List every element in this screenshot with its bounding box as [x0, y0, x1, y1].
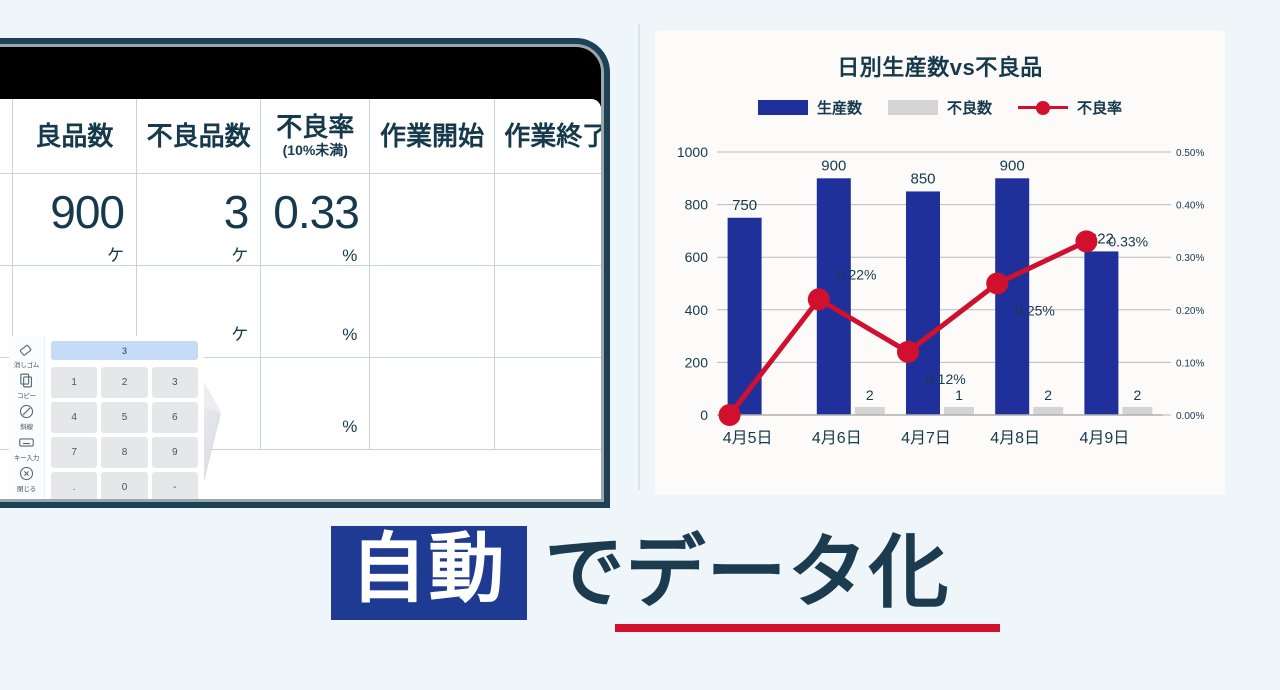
tool-slash[interactable]: 斜線 — [9, 403, 44, 431]
legend-item-defects: 不良数 — [888, 97, 992, 118]
keypad-key-6[interactable]: 6 — [152, 402, 198, 433]
tool-copy-label: コピー — [17, 390, 36, 400]
svg-text:0.30%: 0.30% — [1176, 253, 1204, 264]
svg-text:800: 800 — [685, 197, 709, 213]
svg-text:600: 600 — [685, 249, 709, 265]
defect-count-unit: ケ — [149, 235, 248, 264]
row-index-cell — [0, 173, 12, 265]
defect-rate-main: 不良率 — [276, 112, 354, 142]
panel-divider — [638, 24, 640, 490]
plot-area: 020040060080010000.00%0.10%0.20%0.30%0.4… — [655, 130, 1225, 460]
legend-swatch-production — [758, 100, 808, 115]
keypad-key-7[interactable]: 7 — [51, 437, 97, 468]
banner-chip: 自動 — [331, 526, 527, 620]
table-header-work-start: 作業開始 — [370, 99, 494, 173]
table-header-defect-count: 不良品数 — [137, 99, 261, 173]
defect-rate-unit: % — [342, 417, 357, 437]
screenshot-root: 良品数 不良品数 不良率 (10%未満) 作業開始 作業終了 — [0, 0, 1280, 690]
svg-text:0.33%: 0.33% — [1108, 233, 1148, 249]
svg-text:4月5日: 4月5日 — [723, 430, 773, 447]
svg-text:0.10%: 0.10% — [1176, 358, 1204, 369]
cell-work-end[interactable] — [494, 357, 601, 449]
close-circle-icon — [18, 465, 35, 482]
defect-rate-unit: % — [273, 235, 357, 264]
tablet-bezel: 良品数 不良品数 不良率 (10%未満) 作業開始 作業終了 — [0, 44, 604, 502]
svg-text:900: 900 — [821, 157, 846, 174]
tool-key-input-label: キー入力 — [14, 452, 39, 462]
keypad-grid: 123456789.0- — [51, 367, 198, 499]
cell-work-start[interactable] — [370, 173, 494, 265]
svg-text:4月6日: 4月6日 — [812, 430, 862, 447]
cell-work-start[interactable] — [370, 357, 494, 449]
eraser-icon — [18, 341, 35, 358]
legend-item-production: 生産数 — [758, 97, 862, 118]
keypad-key-3[interactable]: 3 — [152, 367, 198, 398]
cell-work-end[interactable] — [494, 265, 601, 357]
table-header-row: 良品数 不良品数 不良率 (10%未満) 作業開始 作業終了 — [0, 99, 601, 173]
tool-eraser[interactable]: 消しゴム — [9, 341, 44, 369]
keypad-key-5[interactable]: 5 — [101, 402, 147, 433]
copy-icon — [18, 372, 35, 389]
tablet-device: 良品数 不良品数 不良率 (10%未満) 作業開始 作業終了 — [0, 38, 610, 508]
app-surface: 良品数 不良品数 不良率 (10%未満) 作業開始 作業終了 — [0, 99, 601, 499]
legend-item-defect-rate: 不良率 — [1018, 97, 1122, 118]
svg-text:4月7日: 4月7日 — [901, 430, 951, 447]
keypad-key-4[interactable]: 4 — [51, 402, 97, 433]
defect-count-unit: ケ — [231, 320, 248, 345]
tool-close-label: 閉じる — [17, 483, 36, 493]
tool-copy[interactable]: コピー — [9, 372, 44, 400]
legend-label-defect-rate: 不良率 — [1077, 97, 1122, 118]
legend-label-defects: 不良数 — [947, 97, 992, 118]
cell-defect-rate[interactable]: % — [261, 357, 370, 449]
table-header-work-end: 作業終了 — [494, 99, 601, 173]
svg-text:850: 850 — [910, 170, 935, 187]
bottom-banner: 自動 でデータ化 — [0, 508, 1280, 638]
chart-svg: 020040060080010000.00%0.10%0.20%0.30%0.4… — [655, 130, 1225, 460]
svg-text:400: 400 — [685, 302, 709, 318]
keypad-area: 3 123456789.0- — [45, 336, 204, 499]
keypad-key-minus[interactable]: - — [152, 472, 198, 499]
defect-rate-note: (10%未満) — [265, 143, 365, 158]
table-header-blank — [0, 99, 12, 173]
chart-title: 日別生産数vs不良品 — [655, 30, 1225, 82]
table-row[interactable]: 900 ケ 3 ケ 0.33 % — [0, 173, 601, 265]
legend-marker-dot — [1036, 101, 1050, 115]
defect-rate-value: 0.33 — [273, 175, 357, 235]
cell-work-start[interactable] — [370, 265, 494, 357]
cell-work-end[interactable] — [494, 173, 601, 265]
svg-text:0.40%: 0.40% — [1176, 201, 1204, 212]
svg-text:0: 0 — [700, 407, 708, 423]
svg-text:750: 750 — [732, 197, 757, 214]
table-header-good-count: 良品数 — [12, 99, 136, 173]
keypad-key-9[interactable]: 9 — [152, 437, 198, 468]
good-count-unit: ケ — [25, 235, 124, 264]
defect-rate-unit: % — [342, 325, 357, 345]
tool-eraser-label: 消しゴム — [14, 359, 39, 369]
svg-text:4月9日: 4月9日 — [1079, 430, 1129, 447]
good-count-value: 900 — [25, 175, 124, 235]
table-header-defect-rate: 不良率 (10%未満) — [261, 99, 370, 173]
cell-good-count[interactable]: 900 ケ — [12, 173, 136, 265]
plot-wrapper: 020040060080010000.00%0.10%0.20%0.30%0.4… — [655, 130, 1225, 460]
tool-close[interactable]: 閉じる — [9, 465, 44, 493]
svg-text:4月8日: 4月8日 — [990, 430, 1040, 447]
keypad-key-2[interactable]: 2 — [101, 367, 147, 398]
svg-text:0.22%: 0.22% — [837, 266, 877, 282]
svg-text:0.20%: 0.20% — [1176, 306, 1204, 317]
svg-text:0.12%: 0.12% — [926, 371, 966, 387]
keypad-key-8[interactable]: 8 — [101, 437, 147, 468]
cell-defect-rate[interactable]: 0.33 % — [261, 173, 370, 265]
svg-text:900: 900 — [1000, 157, 1025, 174]
svg-text:2: 2 — [1134, 387, 1142, 403]
svg-text:0.50%: 0.50% — [1176, 148, 1204, 159]
svg-text:200: 200 — [685, 354, 709, 370]
keyboard-icon — [18, 434, 35, 451]
tool-slash-label: 斜線 — [20, 421, 33, 431]
tablet-screen: 良品数 不良品数 不良率 (10%未満) 作業開始 作業終了 — [0, 47, 601, 499]
slash-icon — [18, 403, 35, 420]
cell-defect-count[interactable]: 3 ケ — [137, 173, 261, 265]
svg-text:0.00%: 0.00% — [1176, 411, 1204, 422]
tool-rail: 消しゴム コピー — [9, 336, 45, 499]
tool-key-input[interactable]: キー入力 — [9, 434, 44, 462]
svg-text:0.25%: 0.25% — [1015, 303, 1055, 319]
defect-count-value: 3 — [149, 175, 248, 235]
keypad-overlay: 消しゴム コピー — [9, 336, 204, 499]
svg-text:2: 2 — [1044, 387, 1052, 403]
svg-text:2: 2 — [866, 387, 874, 403]
svg-text:1000: 1000 — [677, 144, 708, 160]
banner-underline — [615, 624, 1000, 632]
svg-text:1: 1 — [955, 387, 963, 403]
legend-swatch-defects — [888, 100, 938, 115]
chart-legend: 生産数 不良数 不良率 — [655, 97, 1225, 118]
keypad-key-dot[interactable]: . — [51, 472, 97, 499]
cell-defect-rate[interactable]: % — [261, 265, 370, 357]
keypad-display[interactable]: 3 — [51, 341, 198, 360]
legend-swatch-defect-rate — [1018, 100, 1068, 115]
keypad-key-0[interactable]: 0 — [101, 472, 147, 499]
chart-card: 日別生産数vs不良品 生産数 不良数 不良率 02004006008001000… — [655, 30, 1225, 495]
keypad-key-1[interactable]: 1 — [51, 367, 97, 398]
banner-rest-text: でデータ化 — [545, 533, 950, 613]
legend-label-production: 生産数 — [817, 97, 862, 118]
